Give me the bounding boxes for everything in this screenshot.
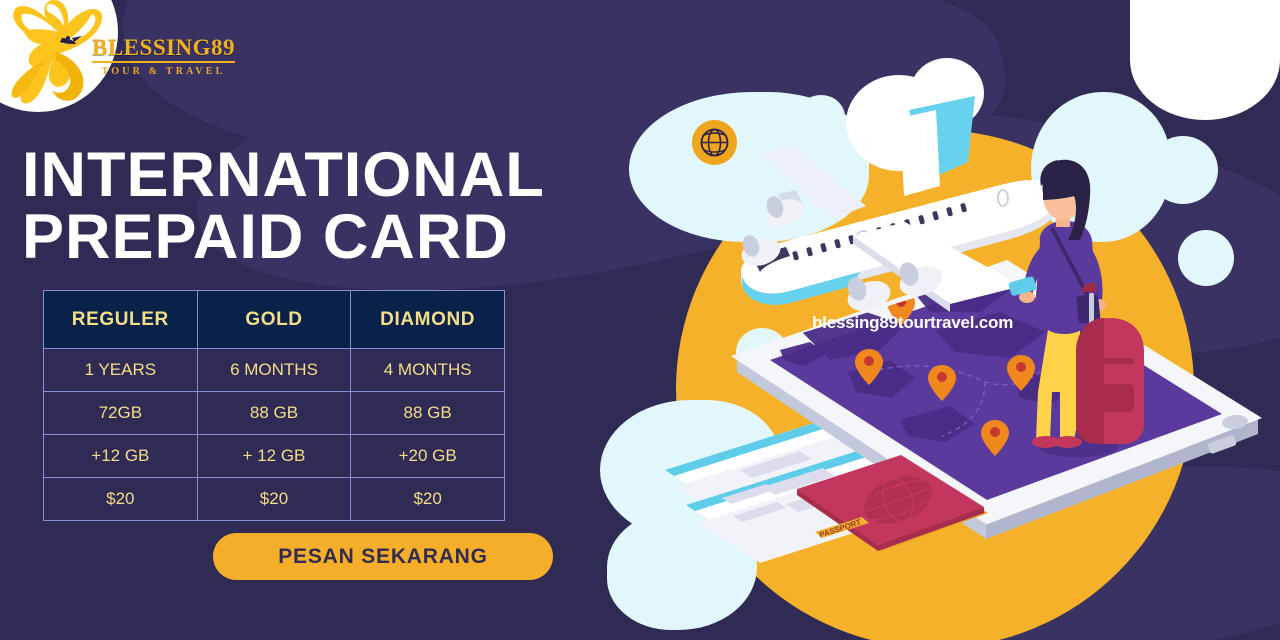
table-cell: +12 GB xyxy=(44,435,198,478)
table-row: 72GB 88 GB 88 GB xyxy=(44,392,505,435)
table-cell: 6 MONTHS xyxy=(197,349,351,392)
table-row: 1 YEARS 6 MONTHS 4 MONTHS xyxy=(44,349,505,392)
table-cell: 1 YEARS xyxy=(44,349,198,392)
table-cell: 88 GB xyxy=(351,392,505,435)
promo-banner: PASSPORT xyxy=(0,0,1280,640)
brand-logo[interactable]: BLESSING89 TOUR & TRAVEL xyxy=(0,0,300,110)
website-url: blessing89tourtravel.com xyxy=(812,313,1013,333)
table-header-row: REGULER GOLD DIAMOND xyxy=(44,291,505,349)
order-now-button[interactable]: PESAN SEKARANG xyxy=(213,533,553,580)
table-cell: 72GB xyxy=(44,392,198,435)
globe-icon xyxy=(692,120,737,165)
pricing-table: REGULER GOLD DIAMOND 1 YEARS 6 MONTHS 4 … xyxy=(43,290,505,521)
table-cell: 4 MONTHS xyxy=(351,349,505,392)
table-column-header: REGULER xyxy=(44,291,198,349)
table-row: +12 GB + 12 GB +20 GB xyxy=(44,435,505,478)
logo-tagline: TOUR & TRAVEL xyxy=(92,66,235,77)
table-column-header: GOLD xyxy=(197,291,351,349)
table-cell: 88 GB xyxy=(197,392,351,435)
logo-brand-name: BLESSING89 xyxy=(92,36,235,63)
table-cell: $20 xyxy=(44,478,198,521)
table-cell: $20 xyxy=(351,478,505,521)
table-column-header: DIAMOND xyxy=(351,291,505,349)
table-cell: + 12 GB xyxy=(197,435,351,478)
table-cell: +20 GB xyxy=(351,435,505,478)
table-cell: $20 xyxy=(197,478,351,521)
headline-line-2: PREPAID CARD xyxy=(22,207,545,269)
headline-line-1: INTERNATIONAL xyxy=(22,145,545,207)
page-title: INTERNATIONAL PREPAID CARD xyxy=(22,145,545,268)
table-row: $20 $20 $20 xyxy=(44,478,505,521)
